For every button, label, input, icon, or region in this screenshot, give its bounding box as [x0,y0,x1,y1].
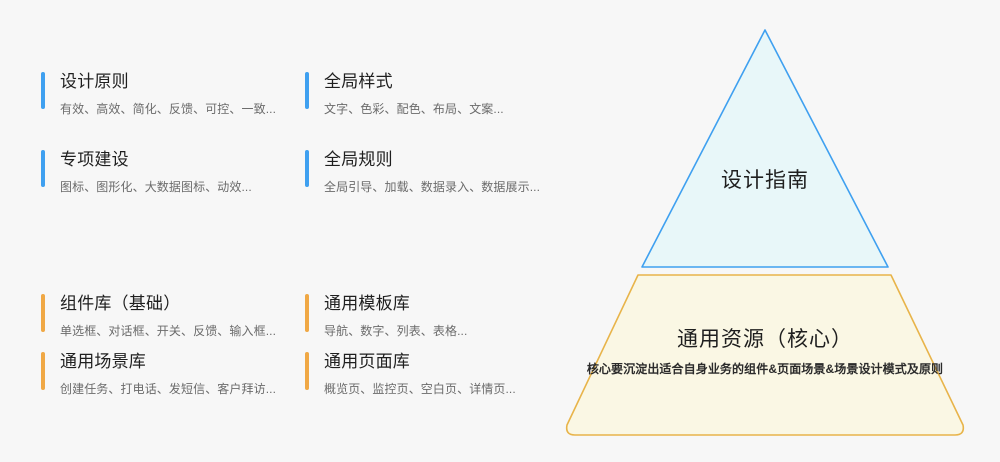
list-item-title: 通用模板库 [324,292,467,316]
list-item-design-principles[interactable]: 设计原则 有效、高效、简化、反馈、可控、一致... [41,70,276,118]
list-item-subtitle: 有效、高效、简化、反馈、可控、一致... [60,101,276,118]
list-item-page-library[interactable]: 通用页面库 概览页、监控页、空白页、详情页... [305,350,516,398]
list-item-title: 全局样式 [324,70,504,94]
diagram-canvas: 设计原则 有效、高效、简化、反馈、可控、一致... 专项建设 图标、图形化、大数… [0,0,1000,462]
accent-bar-orange [41,294,45,332]
accent-bar-orange [305,294,309,332]
list-item-subtitle: 概览页、监控页、空白页、详情页... [324,381,516,398]
list-item-subtitle: 导航、数字、列表、表格... [324,323,467,340]
list-item-special-construction[interactable]: 专项建设 图标、图形化、大数据图标、动效... [41,148,252,196]
list-item-title: 组件库（基础） [60,292,276,316]
list-item-subtitle: 文字、色彩、配色、布局、文案... [324,101,504,118]
list-item-subtitle: 图标、图形化、大数据图标、动效... [60,179,252,196]
list-item-title: 通用页面库 [324,350,516,374]
accent-bar-orange [305,352,309,390]
triangle-icon [642,30,888,267]
accent-bar-blue [41,150,45,187]
accent-bar-orange [41,352,45,390]
list-item-subtitle: 创建任务、打电话、发短信、客户拜访... [60,381,276,398]
list-item-subtitle: 单选框、对话框、开关、反馈、输入框... [60,323,276,340]
list-item-scenario-library[interactable]: 通用场景库 创建任务、打电话、发短信、客户拜访... [41,350,276,398]
trapezoid-icon [567,275,964,435]
category-list-panel: 设计原则 有效、高效、简化、反馈、可控、一致... 专项建设 图标、图形化、大数… [0,0,530,462]
accent-bar-blue [305,150,309,187]
pyramid-shapes [530,0,1000,462]
list-item-template-library[interactable]: 通用模板库 导航、数字、列表、表格... [305,292,467,340]
list-item-title: 设计原则 [60,70,276,94]
accent-bar-blue [41,72,45,109]
list-item-title: 专项建设 [60,148,252,172]
list-item-global-rules[interactable]: 全局规则 全局引导、加载、数据录入、数据展示... [305,148,540,196]
list-item-title: 全局规则 [324,148,540,172]
list-item-global-styles[interactable]: 全局样式 文字、色彩、配色、布局、文案... [305,70,504,118]
list-item-title: 通用场景库 [60,350,276,374]
list-item-component-library[interactable]: 组件库（基础） 单选框、对话框、开关、反馈、输入框... [41,292,276,340]
list-item-subtitle: 全局引导、加载、数据录入、数据展示... [324,179,540,196]
pyramid-diagram: 设计指南 通用资源（核心） 核心要沉淀出适合自身业务的组件&页面场景&场景设计模… [530,0,1000,462]
accent-bar-blue [305,72,309,109]
